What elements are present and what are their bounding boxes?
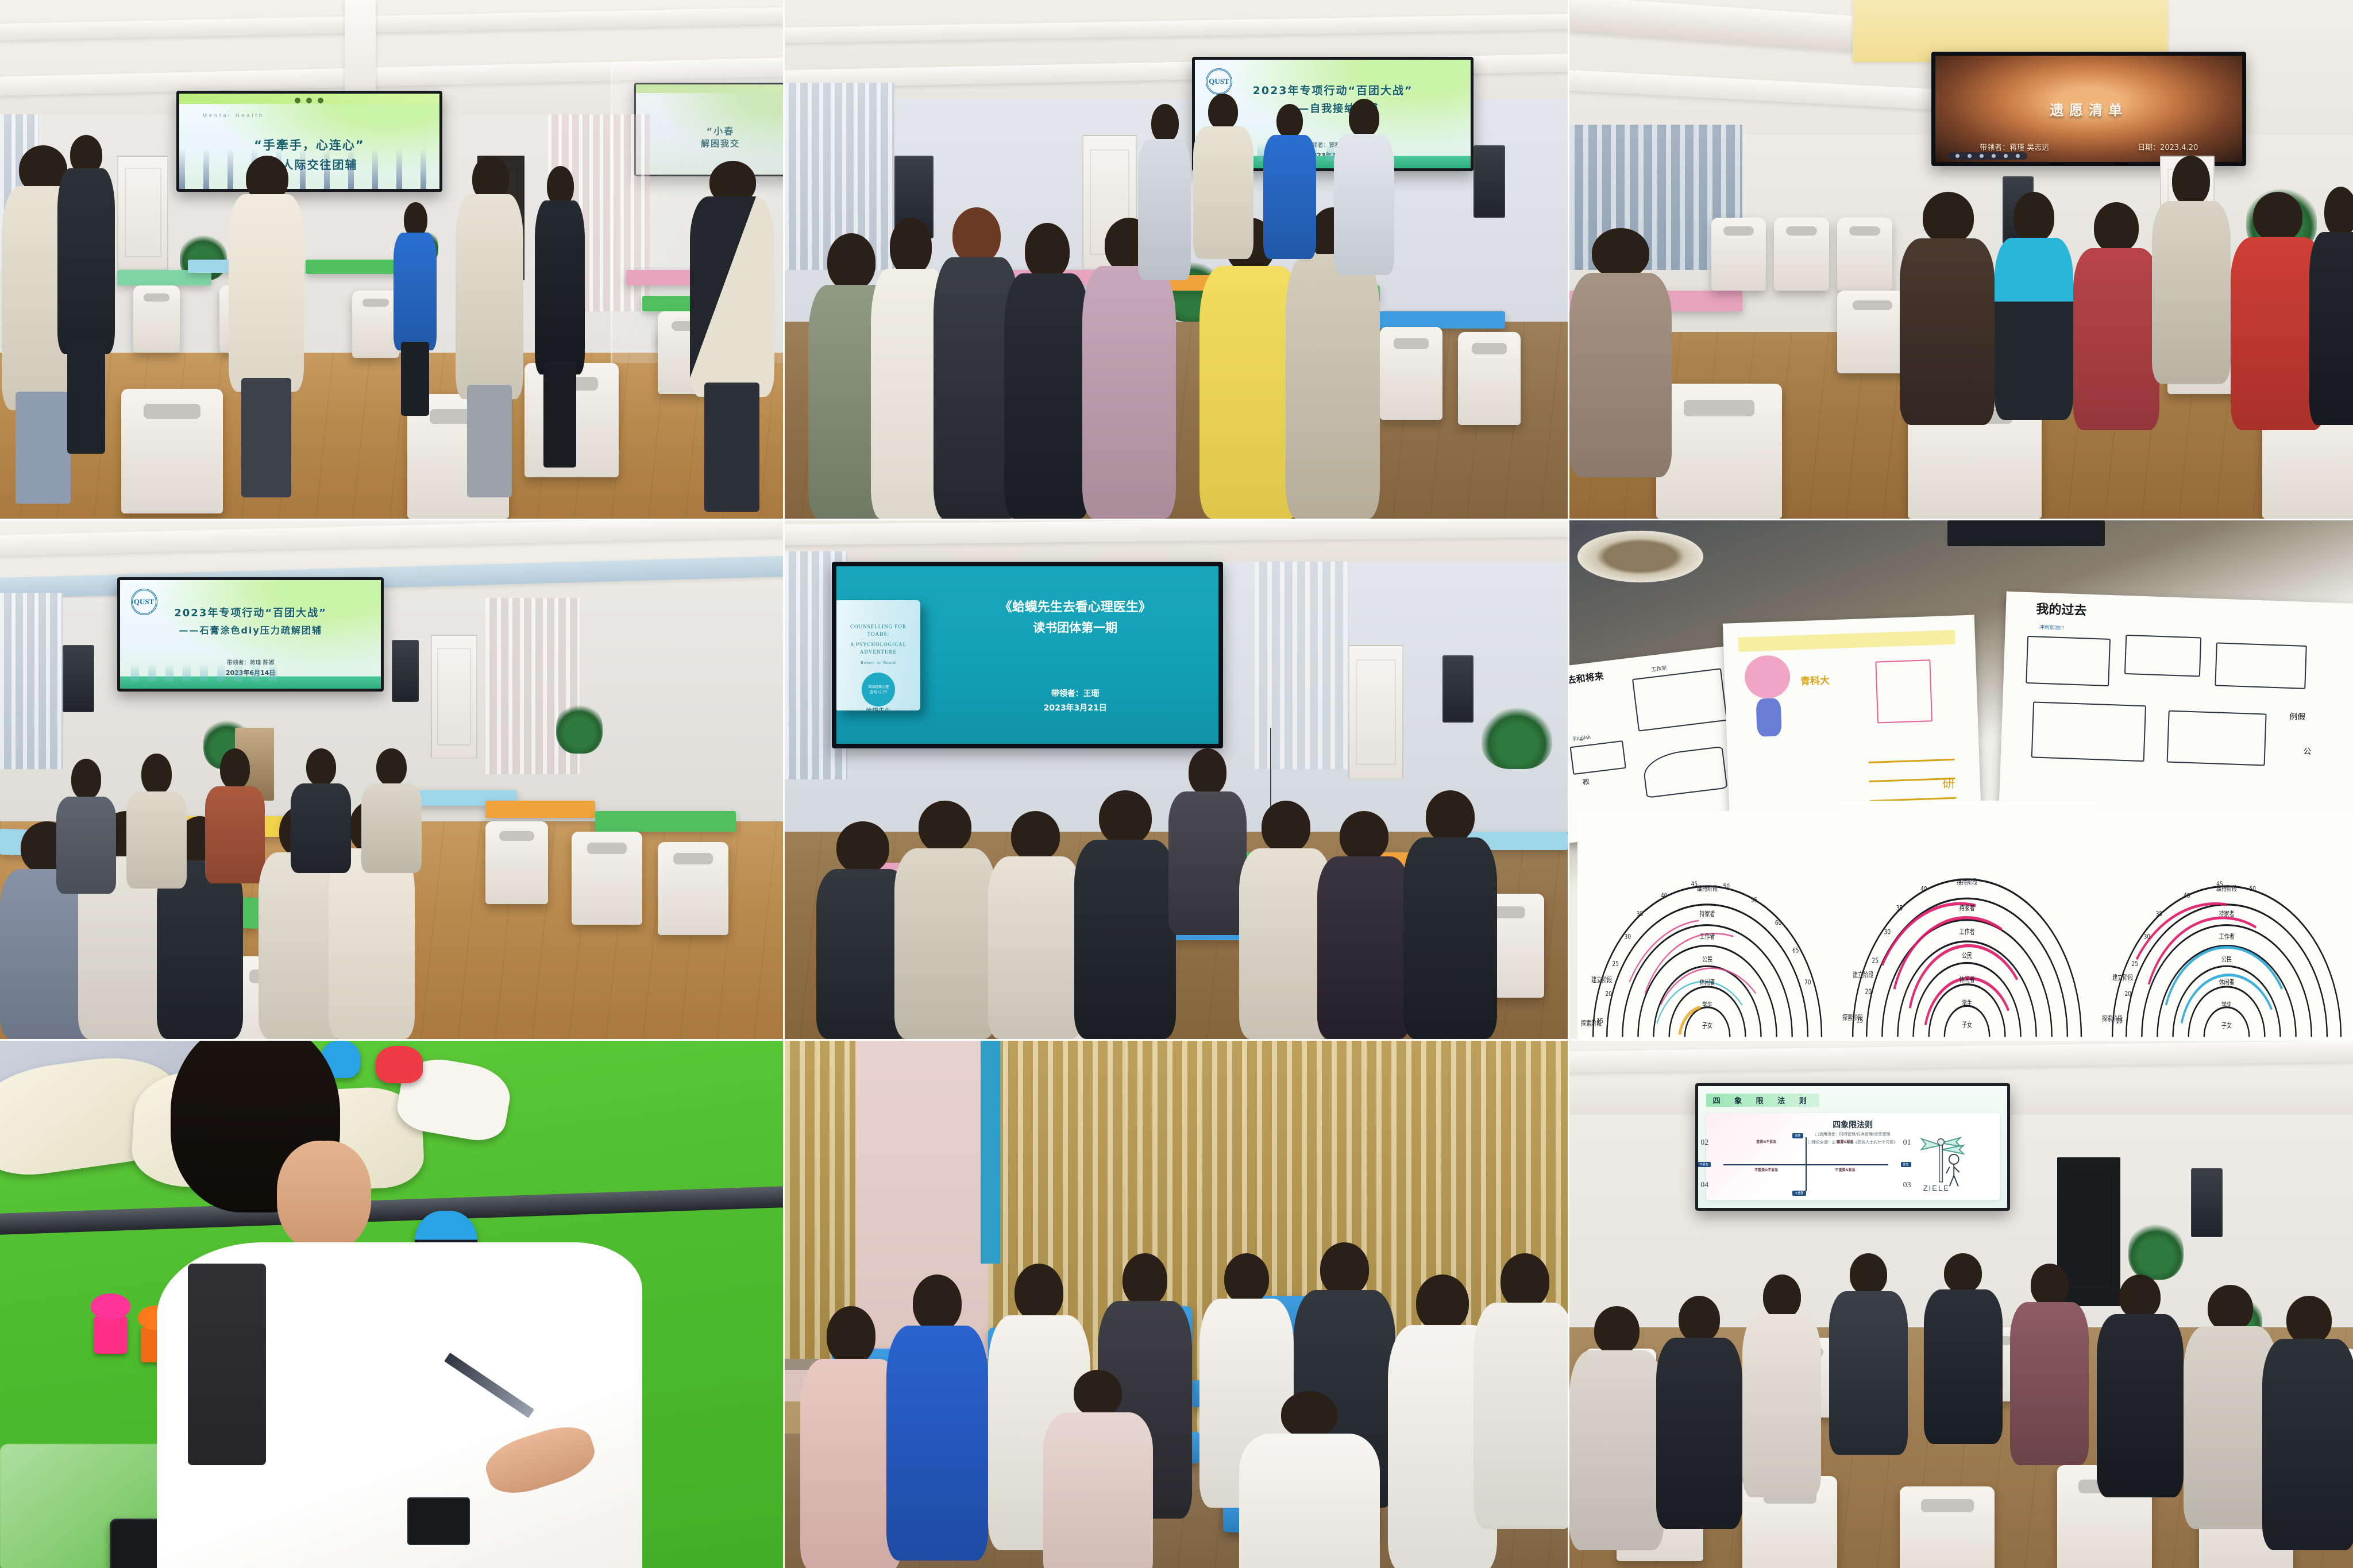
slide-leaders: 带领者：王珊 (1051, 688, 1100, 699)
video-player-controls[interactable] (1948, 152, 2028, 160)
university-logo-icon: QUST (131, 589, 157, 615)
svg-text:维持阶段: 维持阶段 (1697, 884, 1718, 893)
participant (360, 748, 423, 873)
svg-text:50: 50 (1723, 883, 1730, 891)
svg-text:40: 40 (2184, 892, 2190, 900)
signpost-illustration (1897, 1136, 1985, 1189)
career-rainbow-chart: 维持阶段 持家者 工作者 公民 休闲者 学生 子女 建立阶段 探索阶段 3540… (2097, 811, 2353, 1039)
participant (227, 156, 305, 508)
book-en-author: Robert de Board (842, 660, 916, 666)
poster-title: 青科大 (1800, 672, 1830, 688)
participant (1995, 192, 2073, 420)
worksheet-poster: 我的过去 冲刺加油!! 例假 公 (1999, 592, 2353, 822)
signpost-label: ZIELE (1923, 1184, 1950, 1192)
poster-title: 过去和将来 (1569, 668, 1604, 688)
svg-text:工作者: 工作者 (1959, 928, 1974, 936)
svg-text:休闲者: 休闲者 (1699, 978, 1715, 986)
photo-panel-reading-group[interactable]: COUNSELLING FOR TOADS: A PSYCHOLOGICAL A… (785, 520, 1568, 1039)
quadrant-cell-03: 不重要&紧急 (1809, 1168, 1881, 1173)
activity-table (485, 801, 595, 818)
photo-panel-time-management-lecture[interactable]: 四 象 限 法 则 四象限法则 □适用场景：时间管理/任务管理/效率管理 □理论… (1569, 1041, 2353, 1568)
svg-text:学生: 学生 (1962, 998, 1972, 1007)
stacking-chair (1774, 218, 1829, 290)
svg-text:工作者: 工作者 (1699, 933, 1715, 941)
poster-note: 公 (2303, 746, 2312, 758)
participant (1317, 811, 1411, 1039)
svg-text:子女: 子女 (2221, 1021, 2232, 1030)
poster-title: 我的过去 (2035, 599, 2086, 619)
slide-title: 四象限法则 (1712, 1119, 1994, 1130)
poster-note: 研 (1942, 773, 1955, 792)
participant (2262, 1296, 2353, 1551)
photo-collage-grid: Mental Health “手牽手，心连心” 人际交往团辅 “小春 解困我交 (0, 0, 2353, 1568)
participant (1924, 1253, 2003, 1445)
stacking-chair (1711, 218, 1766, 290)
photo-panel-worksheet-posters[interactable]: 过去和将来 English 教 工作室 青科大 研 独立 选择 我的过去 (1569, 520, 2353, 1039)
wall-speaker (1473, 145, 1505, 218)
slide-date: 2023年3月21日 (1044, 702, 1107, 713)
participant (1403, 790, 1498, 1039)
university-logo-icon: QUST (1206, 68, 1232, 95)
participant (1192, 94, 1255, 260)
stacking-chair (1837, 218, 1892, 290)
quadrant-cell-01: 重要&紧急 (1809, 1140, 1881, 1145)
participant (1239, 1391, 1380, 1568)
photo-panel-circle-discussion[interactable] (785, 1041, 1568, 1568)
svg-text:持家者: 持家者 (1699, 909, 1715, 918)
svg-text:10: 10 (2116, 1017, 2123, 1025)
stacking-chair (1837, 291, 1908, 373)
participant (1569, 228, 1672, 477)
book-en-subtitle: A PSYCHOLOGICAL ADVENTURE (842, 641, 916, 656)
svg-text:70: 70 (1804, 978, 1811, 986)
stacking-chair (121, 389, 223, 513)
slide-title-line1: 2023年专项行动“百团大战” (1253, 82, 1413, 98)
svg-text:60: 60 (1775, 919, 1782, 927)
presentation-screen: COUNSELLING FOR TOADS: A PSYCHOLOGICAL A… (832, 562, 1224, 748)
film-title: 遗愿清单 (2050, 99, 2128, 119)
participant (1137, 104, 1191, 280)
quadrant-cell-02: 重要&不紧急 (1730, 1140, 1803, 1145)
paint-pot (94, 1316, 127, 1354)
svg-text:建立阶段: 建立阶段 (2112, 973, 2133, 982)
book-cn-title: 蛤蟆先生 去看心理医生 (859, 706, 897, 710)
participant (2152, 156, 2231, 384)
participant (1569, 1306, 1664, 1550)
participant (203, 748, 266, 883)
svg-text:公民: 公民 (2221, 956, 2232, 964)
participant (290, 748, 352, 873)
svg-text:休闲者: 休闲者 (1959, 975, 1974, 984)
slide-title-line2: 读书团体第一期 (1033, 619, 1117, 636)
svg-text:25: 25 (1612, 960, 1618, 968)
presentation-screen: 遗愿清单 带领者：蒋瑾 吴志远 日期：2023.4.20 (1931, 52, 2246, 166)
svg-text:公民: 公民 (1962, 951, 1972, 960)
stacking-chair (1656, 384, 1782, 519)
participant (1656, 1296, 1743, 1530)
svg-text:维持阶段: 维持阶段 (1957, 876, 1977, 886)
svg-text:15: 15 (1856, 1015, 1862, 1024)
svg-text:20: 20 (1865, 987, 1872, 996)
participant (55, 759, 117, 894)
svg-text:35: 35 (1896, 903, 1903, 912)
book-badge: 英国经典心理咨询入门书 (862, 673, 896, 706)
participant (2097, 1275, 2184, 1497)
axis-label-left: 不紧急 (1698, 1162, 1711, 1167)
slide-title-line1: 《蛤蟆先生去看心理医生》 (1000, 597, 1151, 615)
photo-panel-plaster-diy-group[interactable]: QUST 2023年专项行动“百团大战” ——石膏涂色diy压力疏解团辅 带领者… (0, 520, 783, 1039)
poster-note: 冲刺加油!! (2039, 623, 2064, 632)
svg-text:学生: 学生 (1702, 1001, 1712, 1009)
participant (1043, 1370, 1153, 1568)
svg-text:建立阶段: 建立阶段 (1591, 975, 1612, 984)
svg-text:工作者: 工作者 (2219, 933, 2234, 941)
poster-note: English (1573, 733, 1591, 742)
film-date: 日期：2023.4.20 (2138, 141, 2198, 152)
participant (886, 1275, 988, 1561)
poster-note: 例假 (2289, 710, 2305, 723)
wall-speaker (392, 640, 419, 702)
svg-text:45: 45 (2216, 880, 2223, 889)
svg-text:30: 30 (1624, 933, 1631, 941)
smartwatch (407, 1497, 470, 1545)
participant (894, 801, 996, 1039)
axis-label-top: 重要 (1792, 1133, 1803, 1138)
svg-text:25: 25 (1872, 956, 1878, 965)
stacking-chair (133, 285, 180, 353)
photo-panel-interpersonal-group[interactable]: Mental Health “手牽手，心连心” 人际交往团辅 “小春 解困我交 (0, 0, 783, 519)
participant (125, 754, 188, 889)
participant (1262, 104, 1317, 260)
svg-text:20: 20 (1605, 990, 1612, 998)
participant (2073, 202, 2160, 430)
quadrant-number-02: 02 (1700, 1138, 1708, 1148)
svg-text:55: 55 (1750, 896, 1757, 904)
svg-text:35: 35 (1636, 910, 1642, 918)
svg-text:持家者: 持家者 (2219, 909, 2234, 918)
svg-text:65: 65 (1792, 947, 1799, 955)
participant (392, 202, 439, 420)
photo-panel-film-viewing[interactable]: 遗愿清单 带领者：蒋瑾 吴志远 日期：2023.4.20 (1569, 0, 2353, 519)
poster-note: 工作室 (1650, 664, 1667, 673)
svg-text:持家者: 持家者 (1959, 903, 1974, 912)
participant (2309, 187, 2353, 425)
svg-text:25: 25 (2131, 960, 2138, 968)
svg-text:15: 15 (1596, 1017, 1603, 1025)
svg-text:50: 50 (2249, 885, 2256, 893)
career-rainbow-chart: 维持阶段 持家者 工作者 公民 休闲者 学生 子女 建立阶段 探索阶段 3540… (1837, 801, 2097, 1039)
slide-en-subtitle: Mental Health (202, 113, 264, 118)
axis-label-bottom: 不重要 (1792, 1191, 1806, 1196)
poster-note: 教 (1582, 777, 1590, 787)
stacking-chair (1458, 332, 1521, 426)
book-en-title: COUNSELLING FOR TOADS: (842, 623, 916, 639)
participant (1168, 748, 1247, 935)
participant (1829, 1253, 1908, 1455)
stacking-chair (658, 842, 728, 936)
slide-dots-icon (295, 98, 323, 103)
svg-text:子女: 子女 (1702, 1021, 1712, 1030)
svg-text:子女: 子女 (1962, 1020, 1972, 1029)
svg-text:休闲者: 休闲者 (2219, 978, 2234, 986)
participant (2010, 1264, 2089, 1465)
stacking-chair (572, 832, 642, 925)
participant (689, 161, 775, 519)
slide-banner: 四 象 限 法 则 (1706, 1094, 1819, 1107)
stacking-chair (1380, 327, 1442, 420)
svg-text:30: 30 (2144, 933, 2151, 941)
quadrant-number-04: 04 (1700, 1181, 1708, 1190)
svg-text:35: 35 (2156, 910, 2162, 918)
room-door (117, 156, 168, 270)
svg-text:30: 30 (1884, 928, 1891, 936)
book-cover: COUNSELLING FOR TOADS: A PSYCHOLOGICAL A… (836, 600, 920, 710)
participant (1900, 192, 1994, 425)
room-door (431, 635, 478, 759)
career-rainbow-chart: 维持阶段 持家者 工作者 公民 休闲者 学生 子女 建立阶段 探索阶段 3035… (1577, 811, 1837, 1039)
photo-panel-figurine-painting[interactable] (0, 1041, 783, 1568)
presentation-screen: Mental Health “手牽手，心连心” 人际交往团辅 (176, 91, 442, 192)
slide-title-line1: 2023年专项行动“百团大战” (174, 605, 327, 620)
stacking-chair (1900, 1486, 1994, 1568)
room-door (1348, 645, 1403, 780)
participant (988, 811, 1082, 1039)
participant (1074, 790, 1176, 1039)
activity-table (595, 811, 736, 832)
participant (55, 135, 117, 467)
slide-title-line2: ——石膏涂色diy压力疏解团辅 (179, 623, 322, 636)
participant (454, 156, 525, 508)
participant (1473, 1253, 1568, 1529)
participant (1004, 223, 1090, 519)
svg-text:40: 40 (1661, 892, 1668, 900)
presentation-screen: QUST 2023年专项行动“百团大战” ——石膏涂色diy压力疏解团辅 带领者… (117, 577, 383, 692)
svg-text:40: 40 (1920, 885, 1927, 893)
presentation-screen: 四 象 限 法 则 四象限法则 □适用场景：时间管理/任务管理/效率管理 □理论… (1695, 1083, 2010, 1211)
activity-table (306, 260, 400, 274)
wall-speaker (1442, 655, 1474, 723)
stacking-chair (485, 821, 548, 904)
film-leaders: 带领者：蒋瑾 吴志远 (1980, 141, 2049, 152)
activity-table (1364, 311, 1505, 329)
wall-speaker (63, 645, 94, 712)
participant (1333, 99, 1395, 275)
svg-text:建立阶段: 建立阶段 (1853, 970, 1873, 979)
quadrant-cell-04: 不重要&不紧急 (1730, 1168, 1803, 1173)
svg-text:学生: 学生 (2221, 1001, 2232, 1009)
svg-text:20: 20 (2124, 990, 2131, 998)
participant (1742, 1275, 1821, 1497)
svg-text:公民: 公民 (1702, 956, 1712, 964)
wall-speaker (2191, 1168, 2223, 1237)
photo-panel-self-acceptance-group[interactable]: QUST 2023年专项行动“百团大战” ——自我接纳团辅 带领者：郭笑雨 王爽… (785, 0, 1568, 519)
participant (533, 166, 587, 477)
svg-text:45: 45 (1691, 880, 1697, 889)
